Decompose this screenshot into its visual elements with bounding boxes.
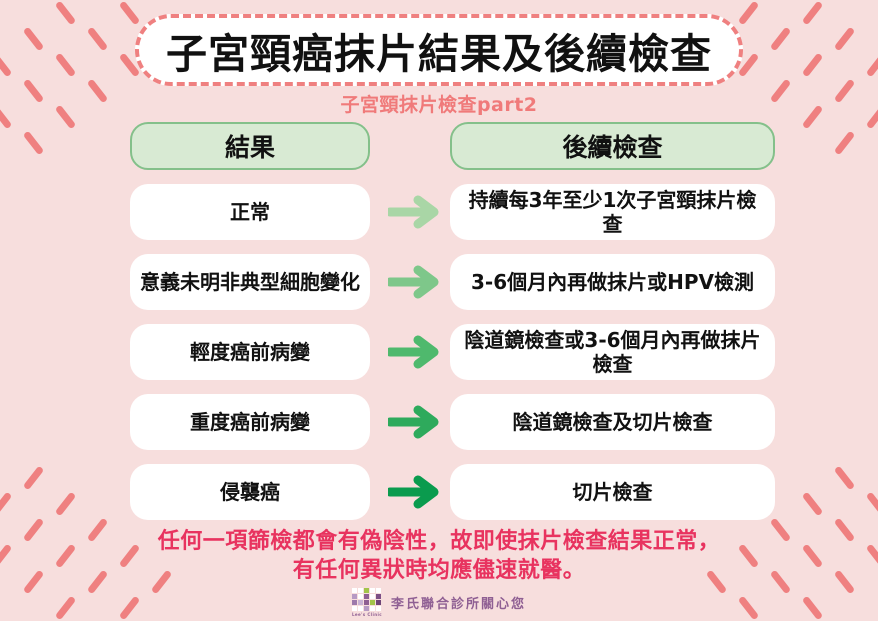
logo-cell [376,588,381,593]
clinic-logo-bar: Lee's Clinic 李氏聯合診所關心您 [0,588,878,617]
logo-cell [358,594,363,599]
decorative-dash [834,27,856,52]
followup-cell: 陰道鏡檢查及切片檢查 [450,394,775,450]
logo-cell [376,606,381,611]
table-row: 正常 持續每3年至少1次子宮頸抹片檢查 [0,184,878,240]
result-cell: 意義未明非典型細胞變化 [130,254,370,310]
logo-cell [364,600,369,605]
decorative-dash [87,27,109,52]
title-banner: 子宮頸癌抹片結果及後續檢查 [135,14,743,86]
decorative-dash [55,53,77,78]
logo-cell [364,588,369,593]
clinic-logo-mark: Lee's Clinic [352,588,382,617]
result-cell: 正常 [130,184,370,240]
logo-cell [352,588,357,593]
result-cell: 侵襲癌 [130,464,370,520]
decorative-dash [770,27,792,52]
infographic-poster: 子宮頸癌抹片結果及後續檢查 子宮頸抹片檢查part2 結果 後續檢查 正常 持續… [0,0,878,621]
decorative-dash [0,53,12,78]
result-cell: 重度癌前病變 [130,394,370,450]
logo-cell [370,588,375,593]
logo-cell [370,600,375,605]
logo-cell [352,600,357,605]
logo-cell [358,588,363,593]
logo-cell [370,606,375,611]
warning-note-line-1: 任何一項篩檢都會有偽陰性，故即使抹片檢查結果正常， [0,527,878,556]
arrow-right-icon [386,193,450,231]
clinic-name: 李氏聯合診所關心您 [391,593,526,612]
logo-caption: Lee's Clinic [352,612,382,617]
arrow-right-icon [386,263,450,301]
arrow-right-icon [386,473,450,511]
page-title: 子宮頸癌抹片結果及後續檢查 [135,14,743,86]
decorative-dash [23,27,45,52]
table-row: 重度癌前病變 陰道鏡檢查及切片檢查 [0,394,878,450]
column-header-followup: 後續檢查 [450,122,775,170]
logo-cell [358,606,363,611]
logo-cell [376,594,381,599]
decorative-dash [802,1,824,26]
logo-cell [358,600,363,605]
logo-cell [364,606,369,611]
logo-cell [370,594,375,599]
logo-cell [352,606,357,611]
followup-cell: 切片檢查 [450,464,775,520]
results-table: 結果 後續檢查 正常 持續每3年至少1次子宮頸抹片檢查 意義未明非典型細胞變化 … [0,122,878,534]
table-header-row: 結果 後續檢查 [0,122,878,170]
table-row: 侵襲癌 切片檢查 [0,464,878,520]
page-subtitle: 子宮頸抹片檢查part2 [0,90,878,117]
column-header-result: 結果 [130,122,370,170]
followup-cell: 3-6個月內再做抹片或HPV檢測 [450,254,775,310]
logo-cell [364,594,369,599]
logo-cell [352,594,357,599]
logo-grid-icon [352,588,381,611]
warning-note: 任何一項篩檢都會有偽陰性，故即使抹片檢查結果正常， 有任何異狀時均應儘速就醫。 [0,527,878,585]
decorative-dash [802,53,824,78]
decorative-dash [866,53,878,78]
decorative-dash [55,1,77,26]
arrow-right-icon [386,403,450,441]
followup-cell: 陰道鏡檢查或3-6個月內再做抹片檢查 [450,324,775,380]
logo-cell [376,600,381,605]
followup-cell: 持續每3年至少1次子宮頸抹片檢查 [450,184,775,240]
table-row: 意義未明非典型細胞變化 3-6個月內再做抹片或HPV檢測 [0,254,878,310]
warning-note-line-2: 有任何異狀時均應儘速就醫。 [0,556,878,585]
arrow-right-icon [386,333,450,371]
table-row: 輕度癌前病變 陰道鏡檢查或3-6個月內再做抹片檢查 [0,324,878,380]
result-cell: 輕度癌前病變 [130,324,370,380]
